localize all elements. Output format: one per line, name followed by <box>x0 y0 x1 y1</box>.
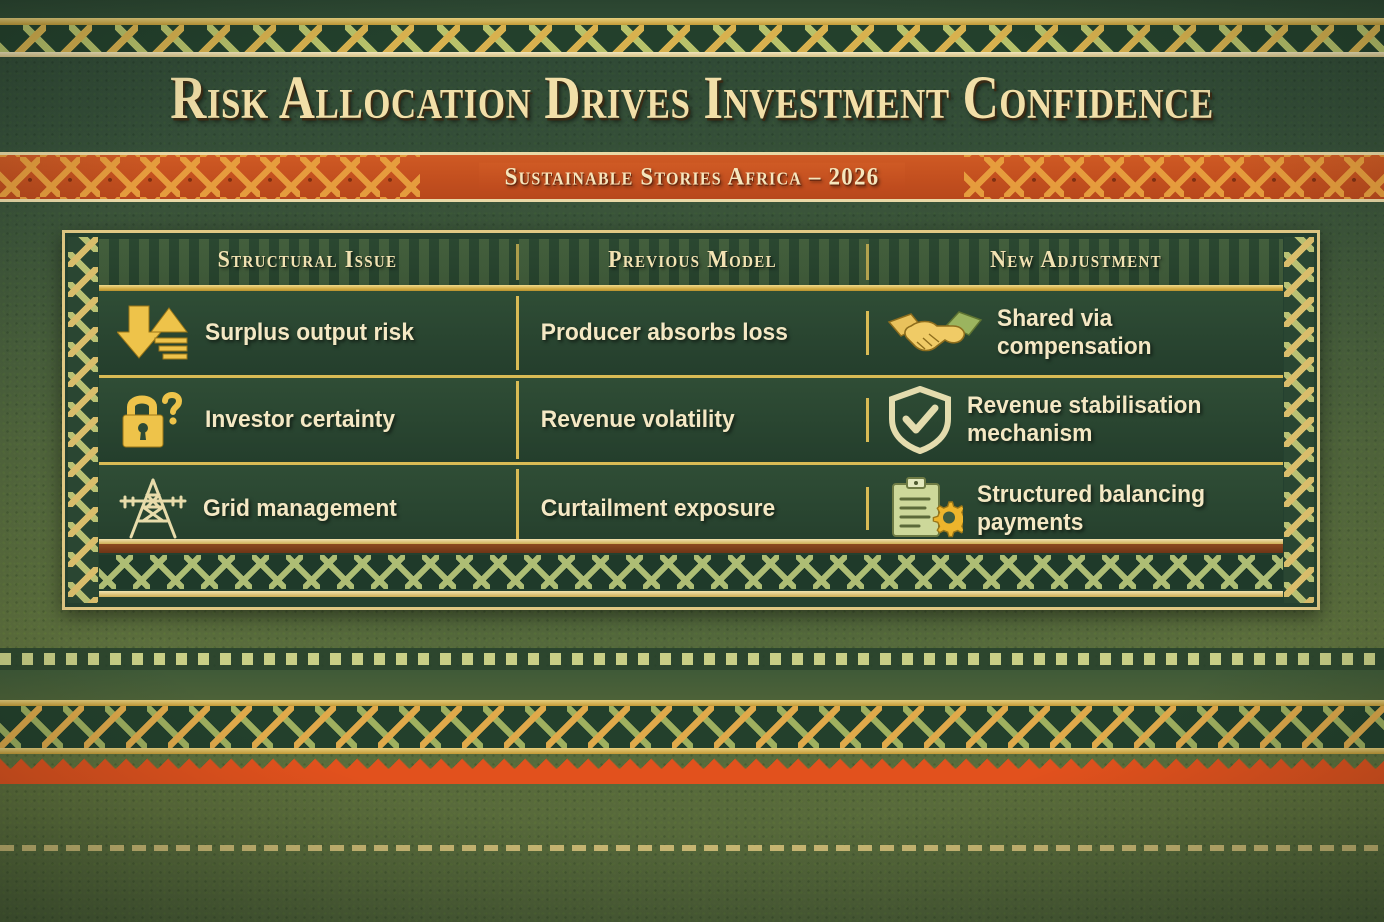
cell-previous-model: Producer absorbs loss <box>519 311 869 355</box>
page-subtitle: Sustainable Stories Africa – 2026 <box>479 163 906 192</box>
dashed-gold-line <box>0 845 1384 851</box>
down-arrow-output-icon <box>117 304 191 362</box>
cell-text: Investor certainty <box>205 406 395 434</box>
cell-text: Producer absorbs loss <box>537 319 788 347</box>
power-pylon-icon <box>117 477 189 541</box>
cell-text: Surplus output risk <box>205 319 414 347</box>
cell-text: Structured balancing payments <box>977 481 1251 537</box>
top-chevron-band <box>0 25 1384 52</box>
top-gold-rule-lower <box>0 52 1384 57</box>
title-block: Risk Allocation Drives Investment Confid… <box>0 62 1384 120</box>
bottom-dotted-square-band <box>0 648 1384 670</box>
cell-new-adjustment: Structured balancing payments <box>869 468 1283 550</box>
infographic-slide: Risk Allocation Drives Investment Confid… <box>0 0 1384 922</box>
padlock-question-icon <box>117 389 191 451</box>
column-header-structural-issue: Structural Issue <box>99 244 519 280</box>
banner-pattern-left-icon <box>0 155 420 199</box>
column-header-label: Previous Model <box>608 244 777 273</box>
bottom-spacer-green <box>0 670 1384 700</box>
footer-chevron-band <box>99 555 1283 589</box>
cell-text: Revenue stabilisation mechanism <box>967 392 1250 448</box>
table-row: Investor certainty Revenue volatility Re… <box>99 378 1283 465</box>
column-header-label: New Adjustment <box>990 244 1162 273</box>
comparison-table-frame: Structural Issue Previous Model New Adju… <box>62 230 1320 610</box>
cell-text: Shared via compensation <box>997 305 1252 361</box>
cell-structural-issue: Surplus output risk <box>99 296 519 370</box>
column-header-label: Structural Issue <box>218 244 398 273</box>
cell-previous-model: Revenue volatility <box>519 398 869 442</box>
cell-text: Curtailment exposure <box>537 495 775 523</box>
cell-structural-issue: Grid management <box>99 469 519 549</box>
frame-footer-ornament <box>99 539 1283 603</box>
top-dark-strip <box>0 0 1384 18</box>
footer-rust-stripe <box>99 544 1283 553</box>
cell-structural-issue: Investor certainty <box>99 381 519 459</box>
page-title: Risk Allocation Drives Investment Confid… <box>170 62 1213 133</box>
table-row: Surplus output risk Producer absorbs los… <box>99 291 1283 378</box>
handshake-icon <box>887 306 983 360</box>
top-ornament-group <box>0 0 1384 57</box>
top-gold-rule-upper <box>0 18 1384 25</box>
table-body: Surplus output risk Producer absorbs los… <box>99 291 1283 552</box>
subtitle-banner: Sustainable Stories Africa – 2026 <box>0 152 1384 202</box>
footer-gold-rule-lower <box>99 591 1283 597</box>
column-header-previous-model: Previous Model <box>519 244 869 280</box>
banner-pattern-right-icon <box>964 155 1384 199</box>
cell-new-adjustment: Shared via compensation <box>869 297 1283 369</box>
bottom-ornament-group <box>0 648 1384 784</box>
bottom-triangle-band <box>0 754 1384 784</box>
shield-check-icon <box>887 386 953 454</box>
cell-text: Grid management <box>203 495 397 523</box>
clipboard-gear-icon <box>887 476 963 542</box>
bottom-chevron-band <box>0 706 1384 748</box>
column-header-new-adjustment: New Adjustment <box>869 244 1283 280</box>
cell-text: Revenue volatility <box>537 406 735 434</box>
bottom-dashed-rule <box>0 845 1384 851</box>
cell-new-adjustment: Revenue stabilisation mechanism <box>869 378 1283 462</box>
table-header-row: Structural Issue Previous Model New Adju… <box>99 239 1283 285</box>
cell-previous-model: Curtailment exposure <box>519 487 869 531</box>
